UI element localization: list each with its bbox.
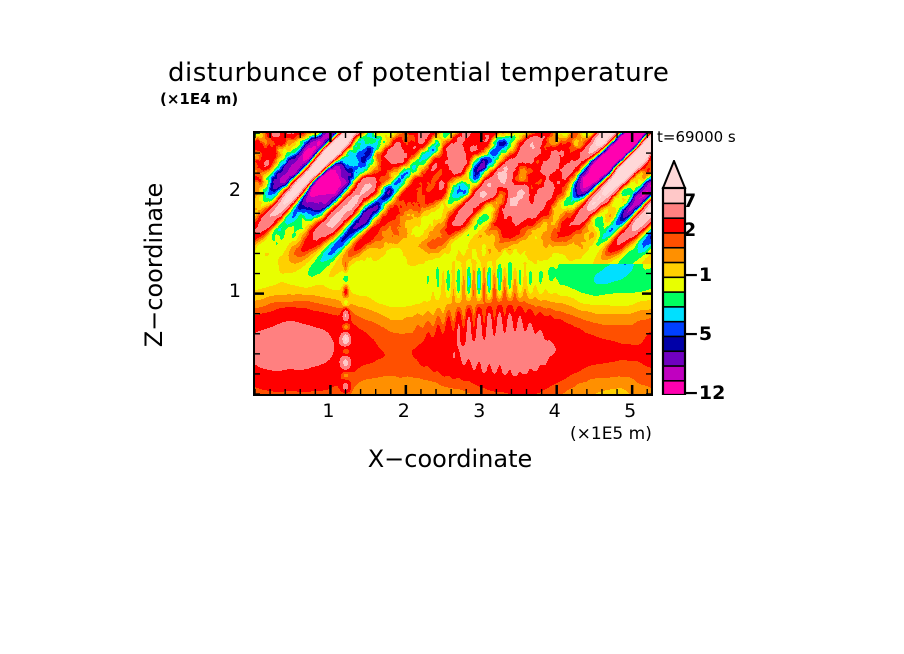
page-title: disturbunce of potential temperature	[168, 58, 768, 88]
x-tick-label: 3	[464, 400, 494, 422]
colorbar-tick-label: 7	[683, 190, 696, 212]
time-annotation: t=69000 s	[657, 128, 736, 146]
figure-canvas: disturbunce of potential temperature (×1…	[0, 0, 904, 654]
x-axis-unit-label: (×1E5 m)	[570, 424, 652, 444]
contour-plot-panel[interactable]	[253, 131, 653, 396]
x-tick-label: 1	[313, 400, 343, 422]
x-axis-title: X−coordinate	[290, 445, 610, 473]
colorbar[interactable]: 72−1−5−12	[659, 160, 699, 395]
y-axis-title: Z−coordinate	[140, 175, 168, 355]
y-tick-label: 2	[211, 179, 241, 201]
contour-field	[255, 133, 651, 394]
colorbar-tick-label: −1	[683, 264, 712, 286]
colorbar-tick-label: −12	[683, 382, 725, 404]
colorbar-tick-label: 2	[683, 219, 696, 241]
x-tick-label: 4	[540, 400, 570, 422]
colorbar-tick-label: −5	[683, 323, 712, 345]
x-tick-label: 2	[389, 400, 419, 422]
y-axis-unit-label: (×1E4 m)	[160, 90, 238, 108]
y-tick-label: 1	[211, 280, 241, 302]
x-tick-label: 5	[615, 400, 645, 422]
